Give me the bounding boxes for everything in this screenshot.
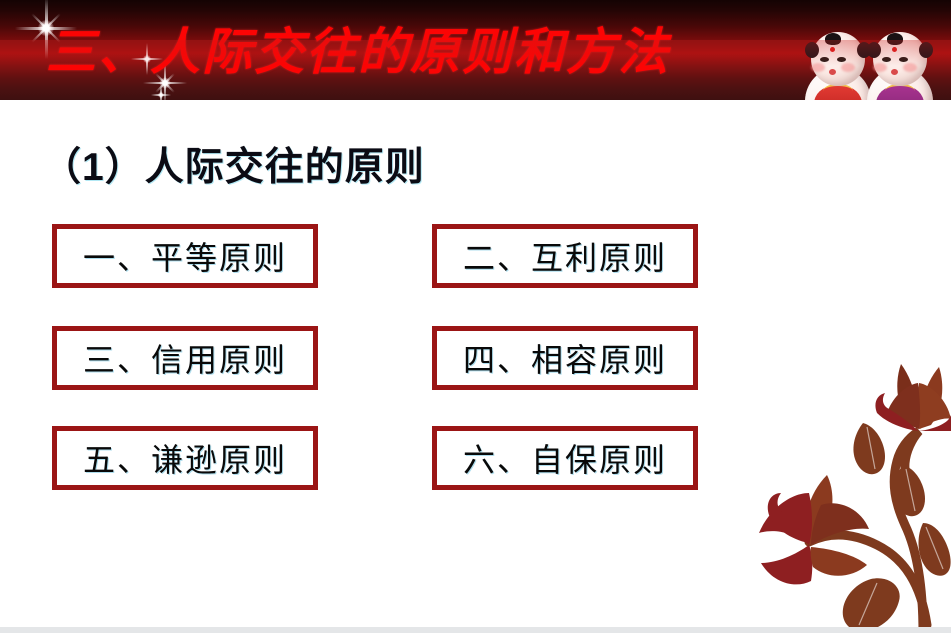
slide-bottom-strip bbox=[0, 627, 951, 633]
principle-box-1[interactable]: 一、平等原则 bbox=[52, 224, 318, 288]
principle-label: 五、谦逊原则 bbox=[83, 435, 287, 481]
principle-label: 四、相容原则 bbox=[463, 335, 667, 381]
principle-label: 一、平等原则 bbox=[83, 233, 287, 279]
oak-leaf-mid bbox=[893, 465, 925, 516]
principle-box-4[interactable]: 四、相容原则 bbox=[432, 326, 698, 390]
presentation-slide: 三、人际交往的原则和方法 bbox=[0, 0, 951, 633]
principle-label: 二、互利原则 bbox=[463, 233, 667, 279]
chinese-doll-right-icon bbox=[867, 32, 933, 100]
slide-title: 三、人际交往的原则和方法 bbox=[46, 19, 670, 85]
oak-leaf-lower bbox=[843, 578, 900, 631]
section-subtitle: （1）人际交往的原则 bbox=[42, 136, 425, 192]
principle-label: 六、自保原则 bbox=[463, 435, 667, 481]
chinese-doll-left-icon bbox=[805, 32, 871, 100]
oak-leaf-upper bbox=[853, 423, 885, 474]
sparkle-star-icon bbox=[150, 84, 172, 100]
lotus-flower-main bbox=[759, 475, 869, 584]
slide-header-banner: 三、人际交往的原则和方法 bbox=[0, 0, 951, 100]
principle-box-6[interactable]: 六、自保原则 bbox=[432, 426, 698, 490]
floral-lotus-vine-icon bbox=[691, 333, 951, 633]
principle-box-3[interactable]: 三、信用原则 bbox=[52, 326, 318, 390]
principle-box-2[interactable]: 二、互利原则 bbox=[432, 224, 698, 288]
principle-label: 三、信用原则 bbox=[83, 335, 287, 381]
chinese-doll-pair-icon bbox=[805, 22, 941, 100]
lotus-flower-top bbox=[875, 364, 951, 431]
oak-leaf-right bbox=[919, 523, 951, 576]
principle-box-5[interactable]: 五、谦逊原则 bbox=[52, 426, 318, 490]
